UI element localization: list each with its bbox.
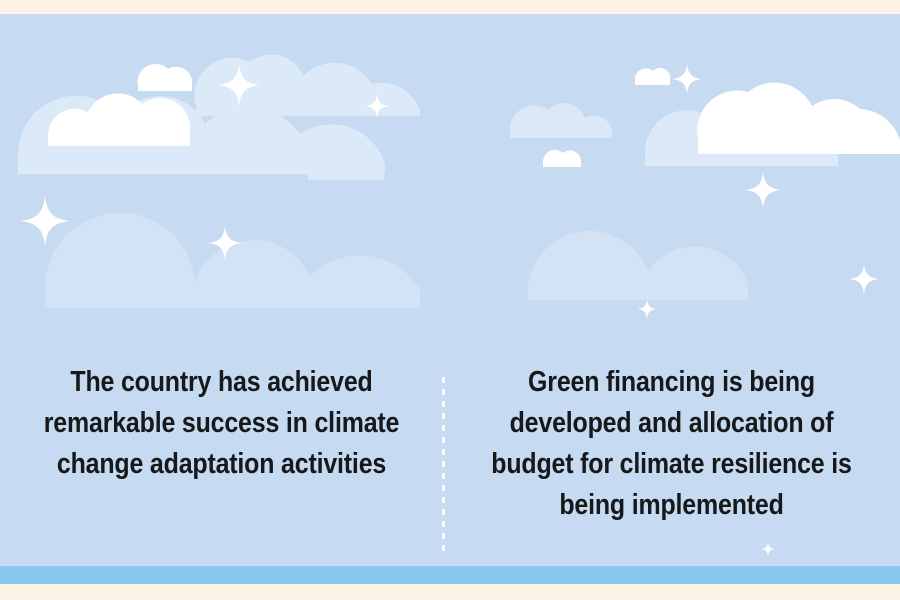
message-left: The country has achieved remarkable succ… — [31, 362, 412, 485]
message-row: The country has achieved remarkable succ… — [0, 362, 900, 562]
sparkle-star-icon — [20, 196, 70, 246]
cloud-shape — [138, 64, 192, 91]
column-divider — [442, 377, 445, 553]
cloud-shape — [528, 231, 748, 300]
cloud-shape — [45, 213, 420, 308]
cloud-shape — [697, 83, 900, 154]
sparkle-star-icon — [637, 299, 657, 319]
bottom-cream-band — [0, 584, 900, 600]
cloud-shape — [510, 103, 612, 138]
bottom-blue-band — [0, 566, 900, 584]
cloud-shape — [635, 68, 670, 85]
message-right-text: Green financing is being developed and a… — [482, 362, 861, 526]
sparkle-star-icon — [745, 172, 781, 208]
sparkle-star-icon — [849, 264, 879, 294]
message-right: Green financing is being developed and a… — [475, 362, 868, 526]
top-cream-band — [0, 0, 900, 14]
cloud-shape — [543, 150, 581, 167]
sparkle-star-icon — [672, 64, 702, 94]
sky-background: The country has achieved remarkable succ… — [0, 14, 900, 566]
message-left-text: The country has achieved remarkable succ… — [38, 362, 405, 485]
infographic-canvas: The country has achieved remarkable succ… — [0, 0, 900, 600]
